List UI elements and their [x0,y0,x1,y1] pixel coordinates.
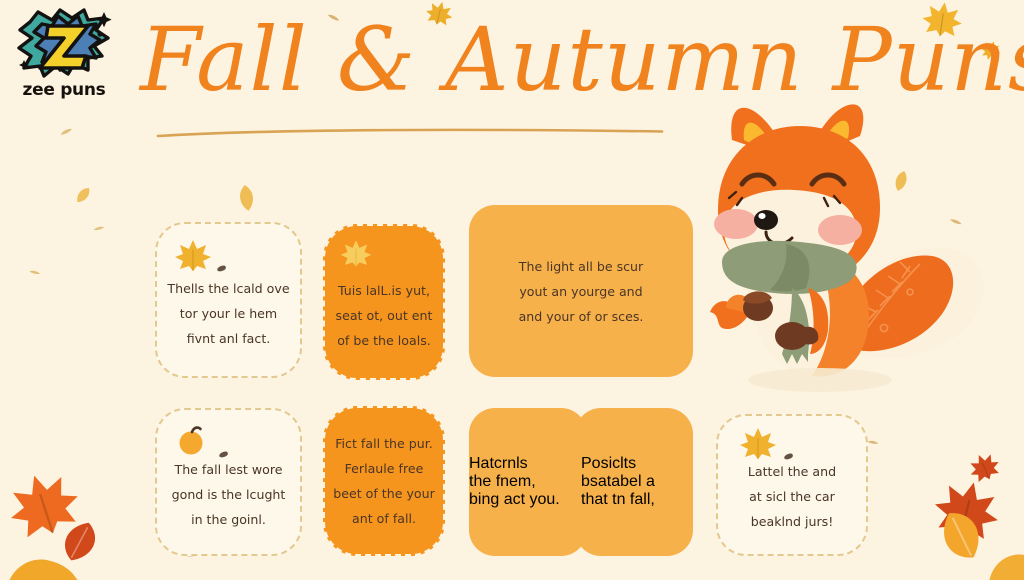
maple-leaf-large-icon [922,470,1009,557]
pun-card-2[interactable]: Tuis lalL.is yut, seat ot, out ent of be… [323,224,445,380]
hand-drawn-divider [156,126,664,138]
leaf-sliver-icon [91,217,105,231]
pun-card-4-text: The fall lest wore gond is the lcught in… [167,457,290,532]
pun-card-6[interactable]: Hatcrnls the fnem, bing act you. Posiclt… [469,408,693,556]
pun-card-4[interactable]: The fall lest wore gond is the lcught in… [155,408,302,556]
maple-leaf-large-icon [0,460,94,558]
maple-leaf-icon [738,426,778,460]
pun-card-1[interactable]: Thells the lcald ove tor your le hem fiv… [155,222,302,378]
leaf-sliver-icon [216,265,226,273]
pun-card-6-column-left: Hatcrnls the fnem, bing act you. [469,408,581,556]
pun-card-7[interactable]: Lattel the and at sicl the car beaklnd j… [716,414,868,556]
pun-card-3[interactable]: The light all be scur yout an yourge and… [469,205,693,377]
pun-card-2-text: Tuis lalL.is yut, seat ot, out ent of be… [331,278,437,353]
pun-card-6-column-right: Posiclts bsatabel a that tn fall, [581,408,693,556]
pun-card-3-text: The light all be scur yout an yourge and… [483,254,679,329]
pun-card-5[interactable]: Fict fall the pur. Ferlaule free beet of… [323,406,445,556]
leaf-sliver-icon [56,120,74,138]
pun-card-7-text: Lattel the and at sicl the car beaklnd j… [728,459,856,534]
gold-blob-leaf-icon [984,548,1024,580]
leaf-tiny-icon [235,183,258,206]
pun-card-5-text: Fict fall the pur. Ferlaule free beet of… [331,431,437,531]
leaf-sliver-icon [29,261,44,276]
maple-leaf-icon [173,238,213,272]
poster-canvas: zee puns Fall & Autumn Puns Thells the l… [0,0,1024,580]
pun-card-1-text: Thells the lcald ove tor your le hem fiv… [167,276,290,351]
oval-leaf-icon [48,510,110,572]
zee-puns-logo[interactable]: zee puns [8,6,120,114]
starburst-badge-icon [16,8,112,80]
maple-leaf-icon [339,238,373,268]
gold-blob-leaf-icon [0,552,86,580]
leaf-tiny-icon [75,183,95,203]
oval-leaf-icon [923,499,998,574]
pumpkin-icon [175,422,209,456]
cartoon-fox-illustration [688,92,998,392]
maple-leaf-small-icon [963,447,1008,492]
logo-wordmark: zee puns [8,80,120,100]
leaf-sliver-icon [867,431,881,445]
